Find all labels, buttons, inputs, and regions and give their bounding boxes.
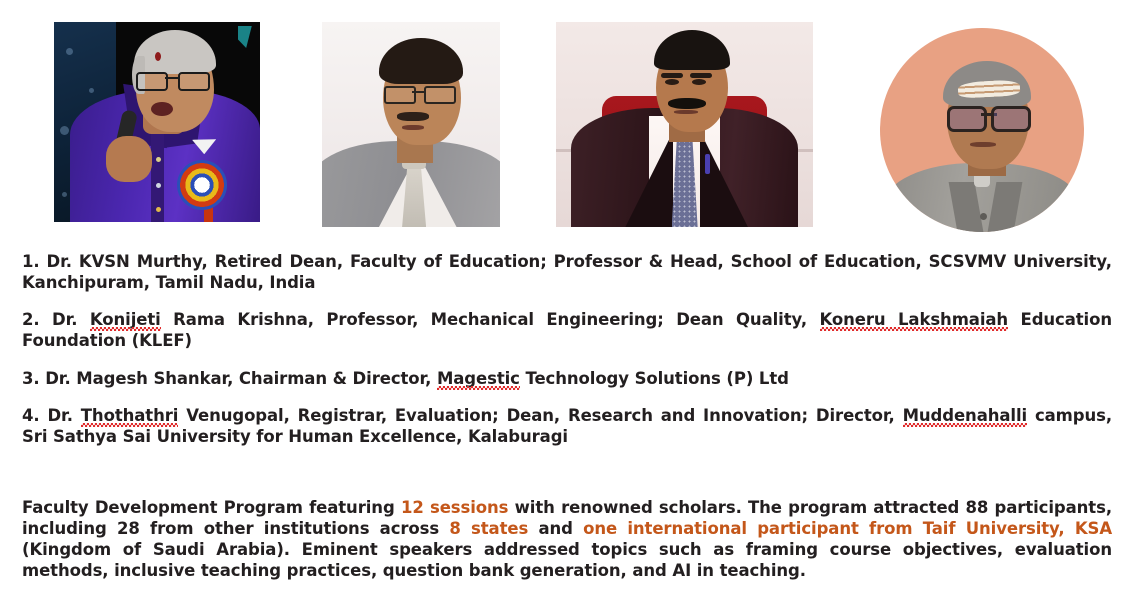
spellcheck-flagged-word: Koneru Lakshmaiah: [820, 310, 1009, 329]
photo-formal-portrait-grey-suit: [322, 22, 500, 227]
spectacles-icon: [136, 72, 210, 88]
forehead-tilak: [155, 52, 161, 61]
eyebrow-right: [690, 73, 712, 78]
program-summary-paragraph: Faculty Development Program featuring 12…: [22, 497, 1112, 581]
lens-left: [136, 72, 168, 91]
mouth: [402, 125, 424, 130]
highlighted-text: one international participant from Taif …: [583, 519, 1112, 538]
moustache: [668, 98, 706, 109]
lens-bridge: [165, 77, 179, 79]
shirt-button: [156, 183, 161, 188]
hand: [106, 136, 152, 182]
open-mouth: [151, 102, 173, 116]
resource-person-list: 1. Dr. KVSN Murthy, Retired Dean, Facult…: [22, 252, 1112, 447]
list-number: 4.: [22, 406, 47, 425]
lens-right: [424, 86, 456, 104]
backdrop-dot: [89, 88, 94, 93]
bio-item-4: 4. Dr. Thothathri Venugopal, Registrar, …: [22, 406, 1112, 447]
jacket-button: [980, 213, 987, 220]
spectacles-icon: [384, 86, 456, 101]
bio-item-3: 3. Dr. Magesh Shankar, Chairman & Direct…: [22, 369, 1112, 390]
eyebrow-left: [661, 73, 683, 78]
lens-right: [991, 106, 1031, 132]
moustache: [397, 112, 429, 121]
slide-root: 1. Dr. KVSN Murthy, Retired Dean, Facult…: [0, 0, 1133, 599]
spectacles-icon: [947, 106, 1031, 126]
spellcheck-flagged-word: Magestic: [437, 369, 520, 388]
lens-left: [384, 86, 416, 104]
photo-circular-avatar-salmon-background: [880, 28, 1084, 232]
rosette-badge: [177, 160, 227, 210]
lens-left: [947, 106, 987, 132]
photo-speaker-with-microphone: [54, 22, 260, 222]
spellcheck-flagged-word: Muddenahalli: [903, 406, 1028, 425]
spellcheck-flagged-word: Konijeti: [90, 310, 161, 329]
lens-right: [178, 72, 210, 91]
list-number: 3.: [22, 369, 45, 388]
highlighted-text: 8 states: [449, 519, 528, 538]
shirt-button: [156, 157, 161, 162]
mouth: [674, 110, 698, 114]
speaker-photo-strip: [0, 0, 1133, 240]
highlighted-text: 12 sessions: [401, 498, 508, 517]
grey-hair: [134, 30, 216, 74]
spellcheck-flagged-word: Thothathri: [81, 406, 179, 425]
bio-item-2: 2. Dr. Konijeti Rama Krishna, Professor,…: [22, 310, 1112, 351]
list-number: 1.: [22, 252, 47, 271]
bio-item-1: 1. Dr. KVSN Murthy, Retired Dean, Facult…: [22, 252, 1112, 293]
mouth: [970, 142, 996, 147]
list-number: 2.: [22, 310, 52, 329]
pocket-pen: [705, 154, 710, 174]
backdrop-accent: [238, 26, 252, 48]
photo-portrait-dark-blazer-red-chair: [556, 22, 813, 227]
shirt-button: [156, 207, 161, 212]
